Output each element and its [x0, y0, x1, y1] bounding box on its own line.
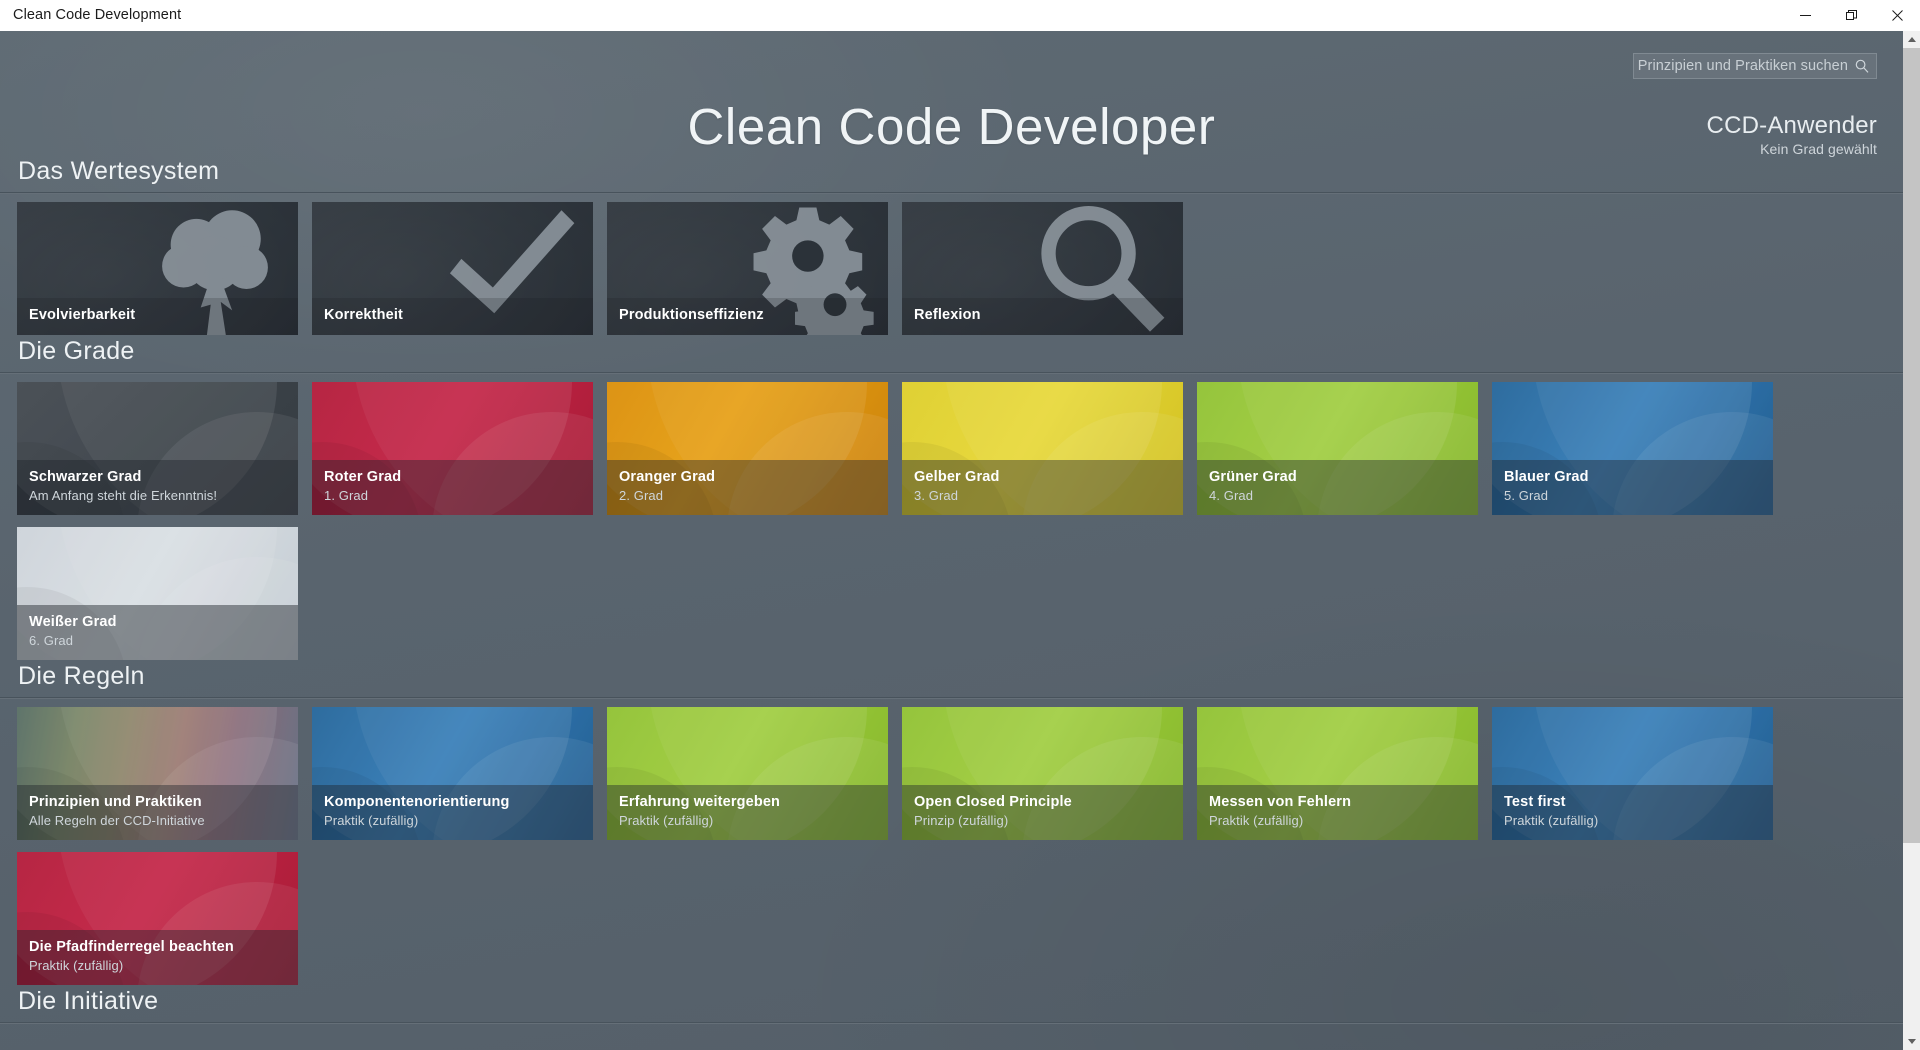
tile-subtitle: 5. Grad	[1504, 487, 1761, 505]
close-button[interactable]	[1874, 0, 1920, 31]
tile[interactable]: Korrektheit	[312, 202, 593, 335]
tile[interactable]: Oranger Grad2. Grad	[607, 382, 888, 515]
tile-subtitle: Am Anfang steht die Erkenntnis!	[29, 487, 286, 505]
tile-title: Oranger Grad	[619, 467, 876, 487]
tile[interactable]: Weißer Grad6. Grad	[17, 527, 298, 660]
tile-title: Korrektheit	[324, 305, 581, 325]
scroll-area: Prinzipien und Praktiken suchen Clean Co…	[0, 31, 1903, 1050]
tile[interactable]: Roter Grad1. Grad	[312, 382, 593, 515]
tile-subtitle: Praktik (zufällig)	[1209, 812, 1466, 830]
search-placeholder: Prinzipien und Praktiken suchen	[1638, 58, 1848, 74]
tile[interactable]: Erfahrung weitergebenPraktik (zufällig)	[607, 707, 888, 840]
tile-label: Die Pfadfinderregel beachtenPraktik (zuf…	[17, 930, 298, 985]
tile-title: Messen von Fehlern	[1209, 792, 1466, 812]
chevron-down-icon	[1908, 1039, 1916, 1044]
user-info[interactable]: CCD-Anwender Kein Grad gewählt	[1707, 113, 1877, 159]
tile-title: Erfahrung weitergeben	[619, 792, 876, 812]
section: Die Initiative	[0, 985, 1903, 1032]
tile-title: Reflexion	[914, 305, 1171, 325]
tile-title: Blauer Grad	[1504, 467, 1761, 487]
tile[interactable]: Prinzipien und PraktikenAlle Regeln der …	[17, 707, 298, 840]
page-title: Clean Code Developer	[0, 99, 1903, 155]
tile-label: Oranger Grad2. Grad	[607, 460, 888, 515]
vertical-scrollbar[interactable]	[1903, 31, 1920, 1050]
section-header: Die Initiative	[0, 985, 1903, 1023]
tile-subtitle: 1. Grad	[324, 487, 581, 505]
scrollbar-thumb[interactable]	[1903, 48, 1920, 843]
tile-subtitle: 4. Grad	[1209, 487, 1466, 505]
tile-subtitle: Prinzip (zufällig)	[914, 812, 1171, 830]
tile-label: KomponentenorientierungPraktik (zufällig…	[312, 785, 593, 840]
section-header: Die Grade	[0, 335, 1903, 373]
tile-subtitle: Praktik (zufällig)	[29, 957, 286, 975]
tile-label: Weißer Grad6. Grad	[17, 605, 298, 660]
tile[interactable]: Gelber Grad3. Grad	[902, 382, 1183, 515]
section: Die GradeSchwarzer GradAm Anfang steht d…	[0, 335, 1903, 660]
tile-subtitle: 6. Grad	[29, 632, 286, 650]
tile-grid: EvolvierbarkeitKorrektheitProduktionseff…	[0, 202, 1903, 335]
tile-label: Reflexion	[902, 298, 1183, 335]
section-title: Das Wertesystem	[18, 155, 1903, 188]
tile-grid: Prinzipien und PraktikenAlle Regeln der …	[0, 707, 1903, 985]
section: Die RegelnPrinzipien und PraktikenAlle R…	[0, 660, 1903, 985]
tile-label: Blauer Grad5. Grad	[1492, 460, 1773, 515]
section: Das WertesystemEvolvierbarkeitKorrekthei…	[0, 155, 1903, 335]
tile-title: Test first	[1504, 792, 1761, 812]
top-bar: Prinzipien und Praktiken suchen Clean Co…	[0, 31, 1903, 155]
tile-title: Prinzipien und Praktiken	[29, 792, 286, 812]
user-name: CCD-Anwender	[1707, 113, 1877, 139]
tile[interactable]: Die Pfadfinderregel beachtenPraktik (zuf…	[17, 852, 298, 985]
section-title: Die Grade	[18, 335, 1903, 368]
tile-title: Schwarzer Grad	[29, 467, 286, 487]
tile[interactable]: Blauer Grad5. Grad	[1492, 382, 1773, 515]
tile[interactable]: Evolvierbarkeit	[17, 202, 298, 335]
chevron-up-icon	[1908, 37, 1916, 42]
tile-label: Gelber Grad3. Grad	[902, 460, 1183, 515]
section-title: Die Initiative	[18, 985, 1903, 1018]
tile[interactable]: Test firstPraktik (zufällig)	[1492, 707, 1773, 840]
scroll-down-button[interactable]	[1903, 1033, 1920, 1050]
section-title: Die Regeln	[18, 660, 1903, 693]
tile-subtitle: 2. Grad	[619, 487, 876, 505]
tile[interactable]: Messen von FehlernPraktik (zufällig)	[1197, 707, 1478, 840]
tile-title: Komponentenorientierung	[324, 792, 581, 812]
tile[interactable]: Grüner Grad4. Grad	[1197, 382, 1478, 515]
tile-title: Roter Grad	[324, 467, 581, 487]
scrollbar-track[interactable]	[1903, 48, 1920, 1033]
tile-title: Weißer Grad	[29, 612, 286, 632]
tile-title: Evolvierbarkeit	[29, 305, 286, 325]
title-bar: Clean Code Development	[0, 0, 1920, 31]
section-header: Die Regeln	[0, 660, 1903, 698]
tile[interactable]: Open Closed PrinciplePrinzip (zufällig)	[902, 707, 1183, 840]
tile-subtitle: Praktik (zufällig)	[324, 812, 581, 830]
tile-label: Produktionseffizienz	[607, 298, 888, 335]
tile-subtitle: 3. Grad	[914, 487, 1171, 505]
tile-label: Erfahrung weitergebenPraktik (zufällig)	[607, 785, 888, 840]
app-body: Prinzipien und Praktiken suchen Clean Co…	[0, 31, 1920, 1050]
sections-container: Das WertesystemEvolvierbarkeitKorrekthei…	[0, 155, 1903, 1032]
tile-subtitle: Alle Regeln der CCD-Initiative	[29, 812, 286, 830]
tile-title: Grüner Grad	[1209, 467, 1466, 487]
tile-label: Open Closed PrinciplePrinzip (zufällig)	[902, 785, 1183, 840]
tile-label: Korrektheit	[312, 298, 593, 335]
tile-label: Schwarzer GradAm Anfang steht die Erkenn…	[17, 460, 298, 515]
tile-title: Produktionseffizienz	[619, 305, 876, 325]
tile-title: Gelber Grad	[914, 467, 1171, 487]
tile-label: Prinzipien und PraktikenAlle Regeln der …	[17, 785, 298, 840]
tile-label: Grüner Grad4. Grad	[1197, 460, 1478, 515]
tile[interactable]: Produktionseffizienz	[607, 202, 888, 335]
tile-subtitle: Praktik (zufällig)	[619, 812, 876, 830]
tile-label: Messen von FehlernPraktik (zufällig)	[1197, 785, 1478, 840]
tile-title: Die Pfadfinderregel beachten	[29, 937, 286, 957]
tile[interactable]: Schwarzer GradAm Anfang steht die Erkenn…	[17, 382, 298, 515]
restore-button[interactable]	[1828, 0, 1874, 31]
tile-label: Roter Grad1. Grad	[312, 460, 593, 515]
tile-label: Test firstPraktik (zufällig)	[1492, 785, 1773, 840]
minimize-button[interactable]	[1782, 0, 1828, 31]
tile-title: Open Closed Principle	[914, 792, 1171, 812]
section-header: Das Wertesystem	[0, 155, 1903, 193]
tile[interactable]: KomponentenorientierungPraktik (zufällig…	[312, 707, 593, 840]
search-input[interactable]: Prinzipien und Praktiken suchen	[1633, 53, 1877, 79]
scroll-up-button[interactable]	[1903, 31, 1920, 48]
tile-label: Evolvierbarkeit	[17, 298, 298, 335]
search-container: Prinzipien und Praktiken suchen	[1633, 53, 1877, 79]
tile[interactable]: Reflexion	[902, 202, 1183, 335]
app-window: Clean Code Development Prinzi	[0, 0, 1920, 1050]
tile-grid: Schwarzer GradAm Anfang steht die Erkenn…	[0, 382, 1903, 660]
search-icon[interactable]	[1855, 59, 1869, 73]
tile-subtitle: Praktik (zufällig)	[1504, 812, 1761, 830]
window-title: Clean Code Development	[0, 7, 181, 23]
